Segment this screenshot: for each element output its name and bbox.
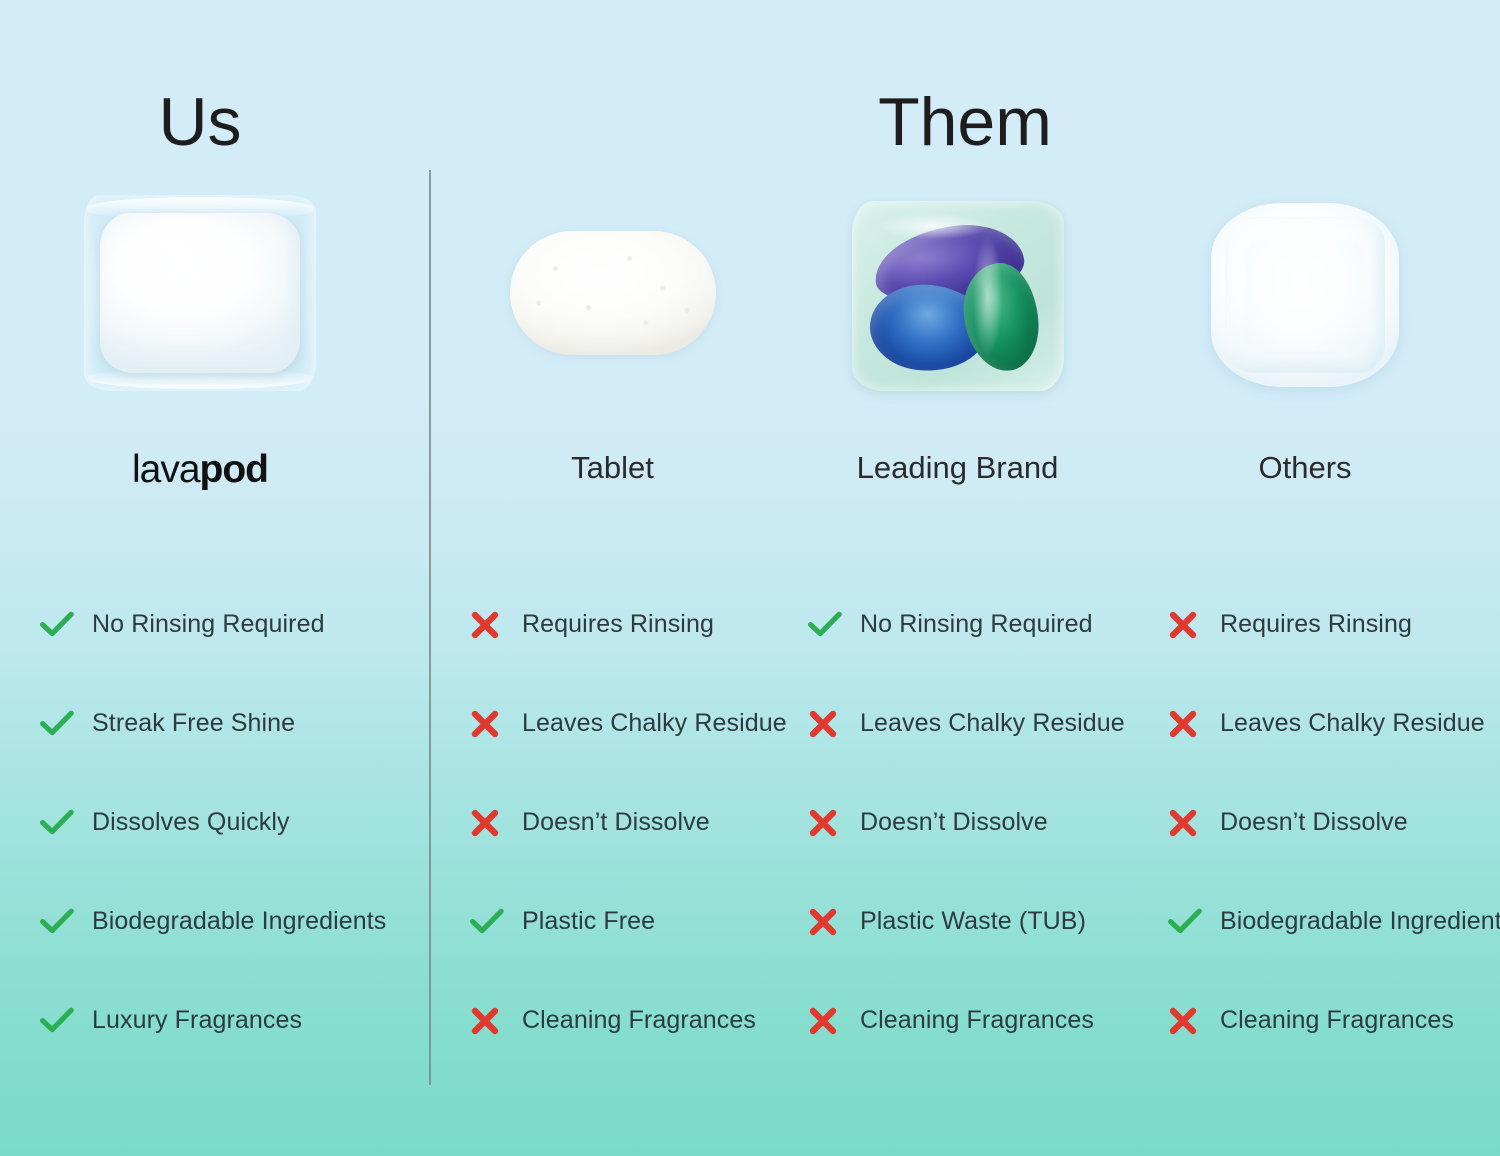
feature-row: Doesn’t Dissolve (808, 773, 1148, 872)
feature-row: Cleaning Fragrances (470, 971, 810, 1070)
feature-column-lavapod: No Rinsing RequiredStreak Free ShineDiss… (40, 575, 430, 1070)
feature-label: Streak Free Shine (92, 709, 295, 738)
product-label-others: Others (1130, 450, 1480, 486)
feature-column-leading-brand: No Rinsing RequiredLeaves Chalky Residue… (808, 575, 1148, 1070)
check-icon (1168, 908, 1220, 936)
feature-column-others: Requires RinsingLeaves Chalky ResidueDoe… (1168, 575, 1500, 1070)
cross-icon (808, 709, 860, 739)
feature-row: Requires Rinsing (470, 575, 810, 674)
check-icon (40, 908, 92, 936)
feature-label: Cleaning Fragrances (1220, 1006, 1454, 1035)
feature-row: Leaves Chalky Residue (470, 674, 810, 773)
brand-logo-lavapod: lavapod (0, 448, 400, 492)
check-icon (40, 809, 92, 837)
feature-label: Biodegradable Ingredients (92, 907, 386, 936)
feature-label: Leaves Chalky Residue (860, 709, 1125, 738)
feature-label: No Rinsing Required (92, 610, 325, 639)
brand-logo-light-part: lava (132, 448, 200, 491)
white-crimped-square-pod-icon (1211, 195, 1399, 387)
check-icon (470, 908, 522, 936)
cross-icon (1168, 709, 1220, 739)
feature-row: Streak Free Shine (40, 674, 430, 773)
check-icon (40, 1007, 92, 1035)
feature-label: Luxury Fragrances (92, 1006, 302, 1035)
feature-label: Leaves Chalky Residue (522, 709, 787, 738)
feature-label: Doesn’t Dissolve (860, 808, 1048, 837)
feature-row: Doesn’t Dissolve (470, 773, 810, 872)
feature-row: Plastic Waste (TUB) (808, 872, 1148, 971)
feature-row: No Rinsing Required (40, 575, 430, 674)
product-label-leading-brand: Leading Brand (785, 450, 1130, 486)
feature-row: Biodegradable Ingredients (1168, 872, 1500, 971)
feature-row: Cleaning Fragrances (808, 971, 1148, 1070)
speckled-white-oval-tablet-icon (510, 195, 716, 355)
feature-label: Cleaning Fragrances (522, 1006, 756, 1035)
check-icon (808, 611, 860, 639)
check-icon (40, 611, 92, 639)
feature-row: Doesn’t Dissolve (1168, 773, 1500, 872)
feature-label: Requires Rinsing (522, 610, 714, 639)
heading-them: Them (430, 88, 1500, 156)
feature-row: Plastic Free (470, 872, 810, 971)
feature-label: Requires Rinsing (1220, 610, 1412, 639)
feature-row: Cleaning Fragrances (1168, 971, 1500, 1070)
feature-row: Requires Rinsing (1168, 575, 1500, 674)
feature-label: Plastic Free (522, 907, 655, 936)
cross-icon (1168, 1006, 1220, 1036)
feature-row: Leaves Chalky Residue (808, 674, 1148, 773)
feature-label: No Rinsing Required (860, 610, 1093, 639)
feature-row: Luxury Fragrances (40, 971, 430, 1070)
cross-icon (808, 1006, 860, 1036)
feature-label: Leaves Chalky Residue (1220, 709, 1485, 738)
cross-icon (1168, 808, 1220, 838)
feature-row: Biodegradable Ingredients (40, 872, 430, 971)
comparison-chart: Us Them (0, 0, 1500, 1156)
check-icon (40, 710, 92, 738)
feature-label: Dissolves Quickly (92, 808, 290, 837)
heading-us: Us (0, 88, 400, 156)
feature-row: Leaves Chalky Residue (1168, 674, 1500, 773)
feature-row: Dissolves Quickly (40, 773, 430, 872)
cross-icon (470, 610, 522, 640)
feature-column-tablet: Requires RinsingLeaves Chalky ResidueDoe… (470, 575, 810, 1070)
feature-label: Biodegradable Ingredients (1220, 907, 1500, 936)
feature-label: Plastic Waste (TUB) (860, 907, 1086, 936)
brand-logo-bold-part: pod (200, 448, 268, 491)
feature-row: No Rinsing Required (808, 575, 1148, 674)
cross-icon (808, 808, 860, 838)
cross-icon (470, 1006, 522, 1036)
cross-icon (470, 709, 522, 739)
pod-in-film-pouch-icon (84, 195, 316, 391)
feature-label: Doesn’t Dissolve (522, 808, 710, 837)
cross-icon (470, 808, 522, 838)
tri-chamber-swirl-pod-icon (852, 195, 1064, 391)
cross-icon (1168, 610, 1220, 640)
product-label-tablet: Tablet (440, 450, 785, 486)
cross-icon (808, 907, 860, 937)
feature-label: Cleaning Fragrances (860, 1006, 1094, 1035)
feature-label: Doesn’t Dissolve (1220, 808, 1408, 837)
